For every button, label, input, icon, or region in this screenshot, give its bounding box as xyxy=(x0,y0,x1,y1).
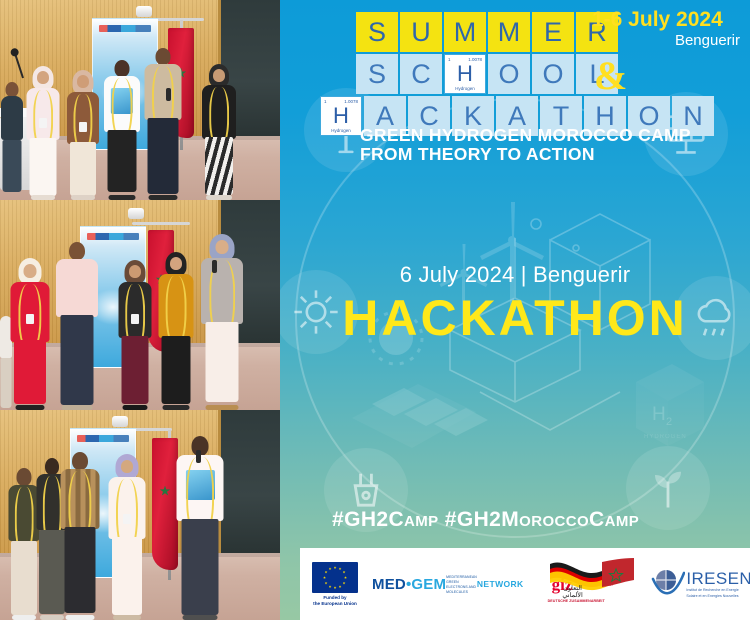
person xyxy=(10,258,50,410)
medgem-word-gem: •GEM xyxy=(406,576,446,593)
medgem-network-word: NETWORK xyxy=(477,579,524,589)
iresen-globe-icon xyxy=(651,567,685,601)
medgem-word-med: MED xyxy=(372,576,406,593)
logo-date-block: 1-6 July 2024 Benguerir xyxy=(592,8,742,49)
person xyxy=(158,252,194,410)
ceiling-light-icon xyxy=(112,416,128,427)
logo-tile: E xyxy=(532,12,574,52)
person xyxy=(66,70,99,200)
atomic-number: 1 xyxy=(448,57,451,62)
logo-tile: C xyxy=(400,54,442,94)
dark-wall-panel xyxy=(218,410,280,553)
person xyxy=(60,452,100,620)
photo-stage-group-3 xyxy=(0,410,280,620)
camp-tagline: GREEN HYDROGEN MOROCCO CAMP FROM THEORY … xyxy=(360,126,691,164)
photo-stage-group-2 xyxy=(0,200,280,410)
microphone-icon xyxy=(166,88,171,101)
logo-tile: M xyxy=(444,12,486,52)
logo-tile: O xyxy=(532,54,574,94)
poster-right-panel: H 2 HYDROGEN xyxy=(280,0,750,620)
camp-dates: 1-6 July 2024 xyxy=(592,8,742,32)
logo-row-school: S C 1 1.0078 H Hydrogen O O L xyxy=(356,54,746,94)
person xyxy=(108,454,146,620)
eu-caption-line-2: the European Union xyxy=(313,601,357,606)
iresen-wordmark: IRESEN xyxy=(686,570,750,587)
svg-text:HYDROGEN: HYDROGEN xyxy=(644,434,687,440)
eu-funding-caption: Funded by the European Union xyxy=(313,595,357,606)
iresen-text-block: IRESEN Institut de Recherche en Energie … xyxy=(686,570,750,598)
hydrogen-element-tile: 1 1.0078 H Hydrogen xyxy=(320,96,362,136)
person xyxy=(0,82,24,200)
medgem-subtitle: MEDITERRANEAN GREEN ELECTRONS AND MOLECU… xyxy=(446,575,477,595)
person xyxy=(144,48,182,200)
logo-med-gem-network: MED•GEM MEDITERRANEAN GREEN ELECTRONS AN… xyxy=(372,574,524,595)
person xyxy=(104,60,140,200)
event-date-location: 6 July 2024 | Benguerir xyxy=(280,262,750,288)
ceiling-light-icon xyxy=(136,6,152,17)
gmc-german-caption: DEUTSCHE ZUSAMMENARBEIT xyxy=(548,599,610,603)
morocco-star-icon xyxy=(160,486,171,497)
event-headline-block: 6 July 2024 | Benguerir HACKATHON xyxy=(280,262,750,346)
photo-collage xyxy=(0,0,280,620)
svg-text:H: H xyxy=(652,404,666,425)
camp-city: Benguerir xyxy=(592,32,742,49)
element-symbol: H xyxy=(445,63,485,85)
ceiling-light-icon xyxy=(128,208,144,219)
hydrogen-element-tile: 1 1.0078 H Hydrogen xyxy=(444,54,486,94)
morocco-flag xyxy=(152,438,178,570)
iresen-subtitle-1: Institut de Recherche en Energie xyxy=(686,588,750,593)
event-title: HACKATHON xyxy=(280,290,750,346)
svg-text:2: 2 xyxy=(666,416,672,428)
medgem-wordmark: MED•GEM xyxy=(372,577,446,592)
person xyxy=(26,66,60,200)
gmc-arabic-caption: التعاون الألماني xyxy=(550,585,596,599)
logo-tile: O xyxy=(488,54,530,94)
element-name: Hydrogen xyxy=(321,128,361,133)
ampersand-glyph: & xyxy=(594,56,627,96)
photo-stage-group-1 xyxy=(0,0,280,200)
microphone-icon xyxy=(196,450,201,463)
element-symbol: H xyxy=(321,105,361,127)
hashtags: #GH2Camp #GH2MoroccoCamp xyxy=(332,508,639,532)
logo-tile: M xyxy=(488,12,530,52)
gmc-arabic-line-2: الألماني xyxy=(550,592,596,599)
person xyxy=(118,260,152,410)
tagline-line-2: FROM THEORY TO ACTION xyxy=(360,145,691,164)
microphone-icon xyxy=(212,260,217,273)
person xyxy=(56,242,98,410)
element-name: Hydrogen xyxy=(445,86,485,91)
gmc-arabic-line-1: التعاون xyxy=(550,585,596,592)
iresen-subtitle-2: Solaire et en Energies Nouvelles xyxy=(686,594,750,599)
sponsor-logo-bar: Funded by the European Union MED•GEM MED… xyxy=(300,548,750,620)
poster-root: H 2 HYDROGEN xyxy=(0,0,750,620)
logo-european-union: Funded by the European Union xyxy=(312,562,358,606)
logo-tile: S xyxy=(356,54,398,94)
person xyxy=(202,64,236,200)
tagline-line-1: GREEN HYDROGEN MOROCCO CAMP xyxy=(360,126,691,145)
ceiling-bar xyxy=(132,222,190,225)
logo-tile: S xyxy=(356,12,398,52)
atomic-number: 1 xyxy=(324,99,327,104)
logo-iresen: IRESEN Institut de Recherche en Energie … xyxy=(651,567,750,601)
person xyxy=(176,436,224,620)
eu-flag-icon xyxy=(312,562,358,593)
logo-tile: U xyxy=(400,12,442,52)
person xyxy=(200,234,244,410)
